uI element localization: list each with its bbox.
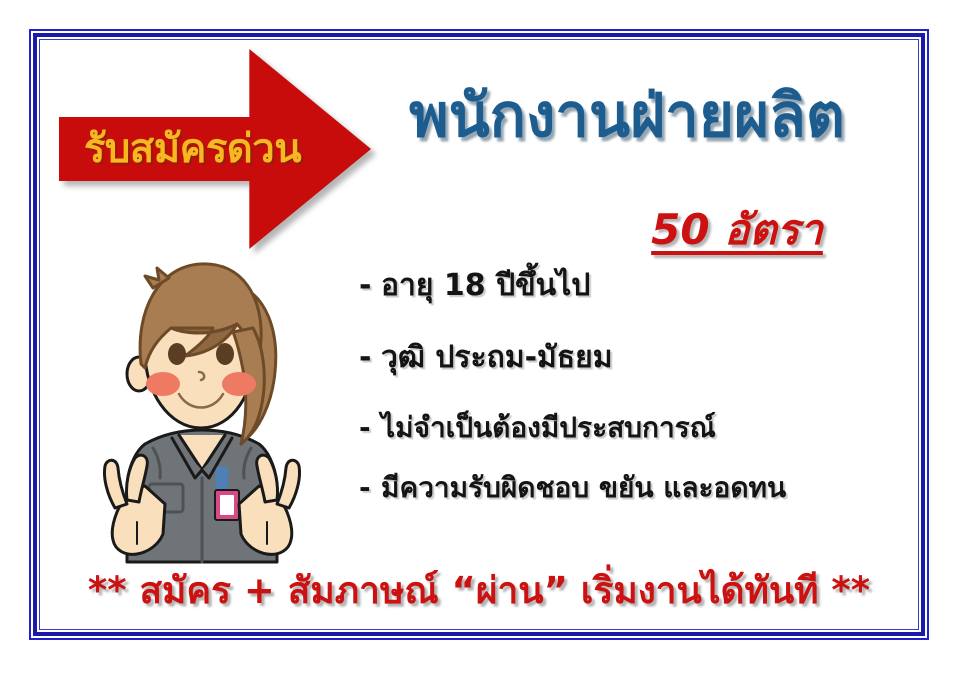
eye-right — [216, 343, 234, 365]
arrow-banner-label: รับสมัครด่วน — [65, 129, 320, 169]
list-item: - วุฒิ ประถม-มัธยม — [359, 334, 919, 381]
poster-frame: รับสมัครด่วน พนักงานฝ่ายผลิต 50 อัตรา - … — [33, 33, 925, 636]
list-item-label: มีความรับผิดชอบ ขยัน และอดทน — [381, 466, 786, 510]
bullet-dash-icon: - — [359, 471, 381, 504]
bullet-dash-icon: - — [359, 340, 381, 375]
list-item-label: อายุ 18 ปีขึ้นไป — [381, 262, 590, 309]
blush-right — [222, 372, 256, 396]
urgent-hiring-arrow-banner: รับสมัครด่วน — [59, 49, 371, 249]
list-item-label: วุฒิ ประถม-มัธยม — [381, 334, 613, 381]
footer-callout: ** สมัคร + สัมภาษณ์ “ผ่าน” เริ่มงานได้ทั… — [37, 561, 921, 620]
page-title: พนักงานฝ่ายผลิต — [337, 85, 917, 148]
list-item: - อายุ 18 ปีขึ้นไป — [359, 262, 919, 309]
bullet-dash-icon: - — [359, 268, 381, 303]
list-item: - มีความรับผิดชอบ ขยัน และอดทน — [359, 466, 919, 510]
eye-left — [168, 343, 186, 365]
position-count-label: 50 อัตรา — [557, 197, 917, 263]
blush-left — [146, 372, 180, 396]
cartoon-woman-illustration — [67, 232, 337, 582]
bullet-dash-icon: - — [359, 411, 381, 444]
list-item-label: ไม่จำเป็นต้องมีประสบการณ์ — [381, 406, 716, 450]
list-item: - ไม่จำเป็นต้องมีประสบการณ์ — [359, 406, 919, 450]
requirements-list: - อายุ 18 ปีขึ้นไป - วุฒิ ประถม-มัธยม - … — [359, 262, 919, 510]
